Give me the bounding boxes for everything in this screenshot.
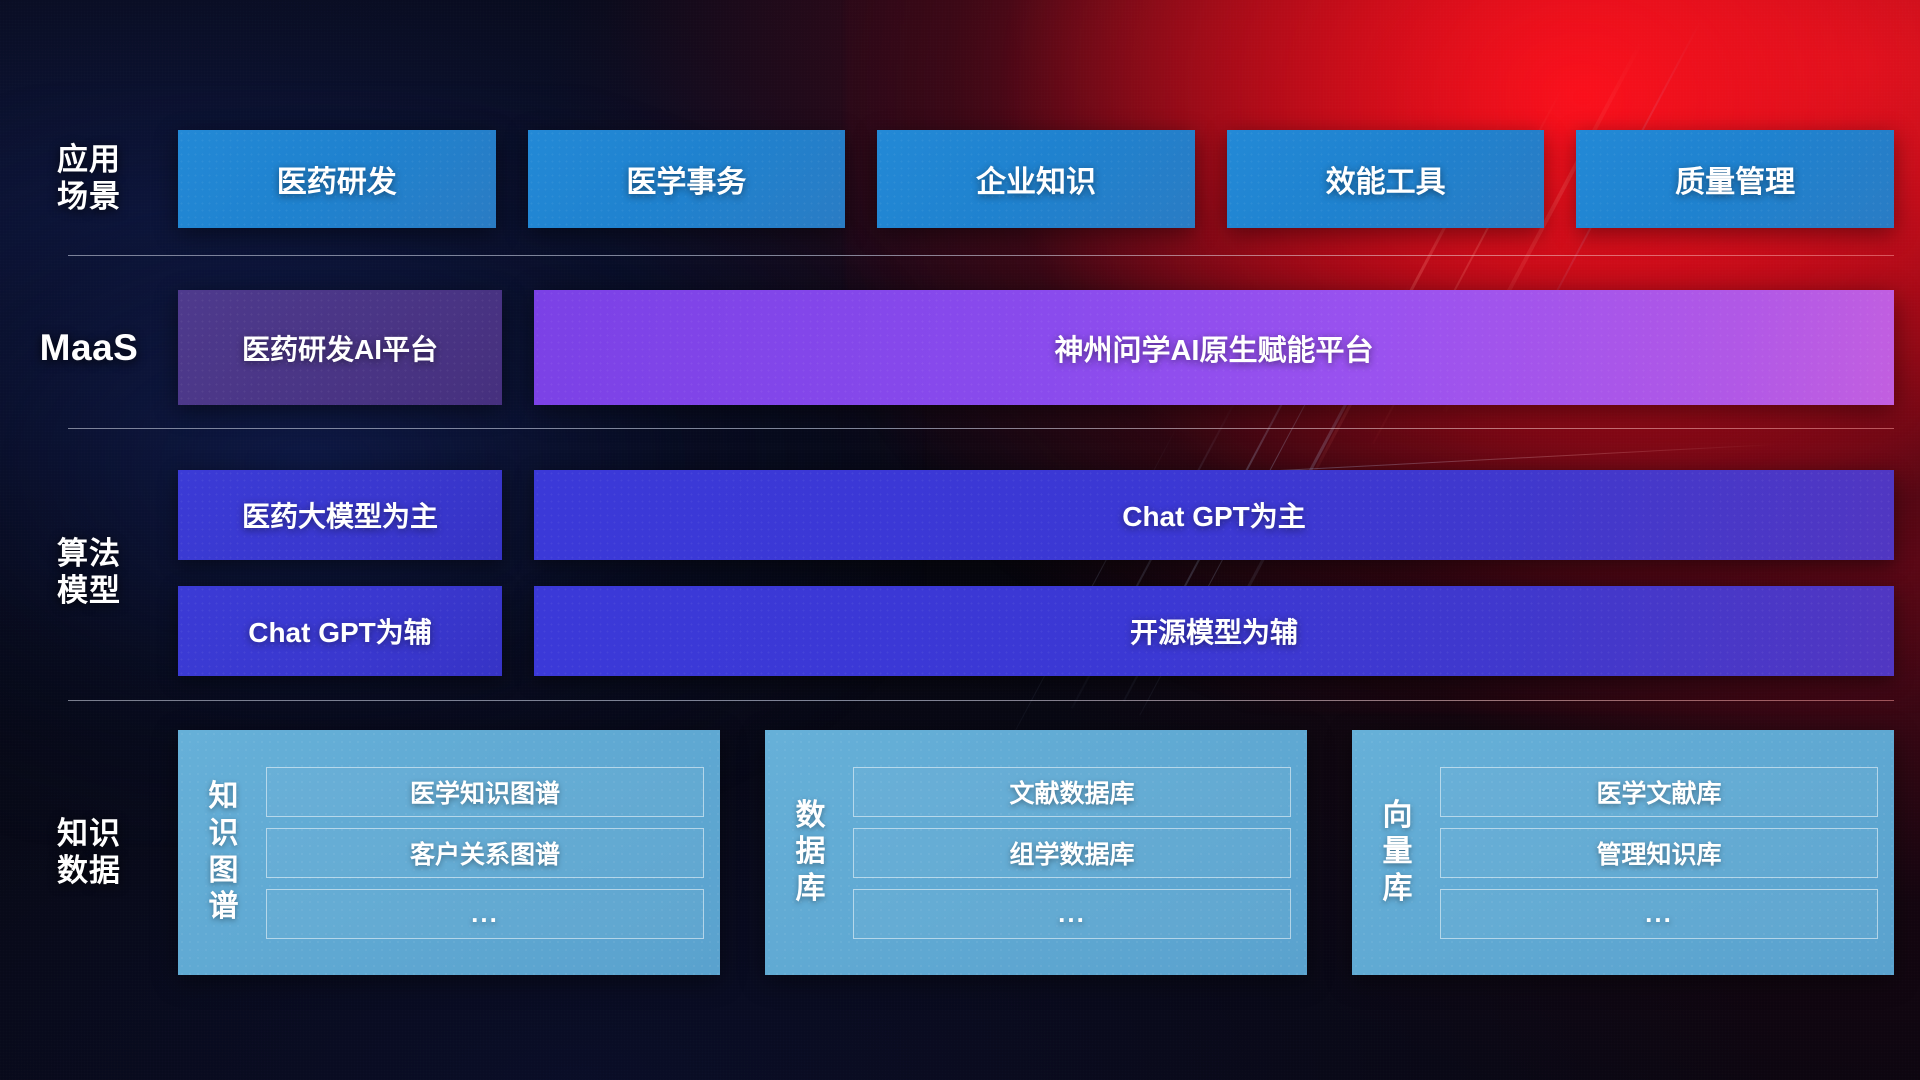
algo-card-opensource-secondary[interactable]: 开源模型为辅 (534, 586, 1894, 676)
app-card-4-label: 效能工具 (1326, 157, 1446, 201)
row-application-scenarios: 应用场景 医药研发 医学事务 企业知识 效能工具 质量管理 (0, 130, 1920, 228)
row-label-knowledge-data: 知识数据 (0, 730, 178, 975)
row-maas: MaaS 医药研发AI平台 神州问学AI原生赋能平台 (0, 290, 1920, 405)
app-card-5[interactable]: 质量管理 (1576, 130, 1894, 228)
knowledge-item-literature-database[interactable]: 文献数据库 (853, 767, 1291, 817)
knowledge-item-database-more-label: ... (1058, 898, 1086, 929)
knowledge-group-knowledge-graph-title: 知识图谱 (196, 779, 252, 925)
app-card-2-label: 医学事务 (626, 157, 746, 201)
knowledge-item-vector-more[interactable]: ... (1440, 889, 1878, 939)
algo-card-chatgpt-secondary[interactable]: Chat GPT为辅 (178, 586, 502, 676)
knowledge-item-medical-literature-store-label: 医学文献库 (1596, 774, 1721, 810)
divider-3 (68, 700, 1894, 701)
knowledge-group-database[interactable]: 数据库 文献数据库 组学数据库 ... (765, 730, 1307, 975)
knowledge-item-medical-literature-store[interactable]: 医学文献库 (1440, 767, 1878, 817)
knowledge-item-medical-knowledge-graph[interactable]: 医学知识图谱 (266, 767, 704, 817)
row-knowledge-data: 知识数据 知识图谱 医学知识图谱 客户关系图谱 ... 数据库 (0, 730, 1920, 975)
row-label-maas: MaaS (0, 326, 178, 370)
app-card-3[interactable]: 企业知识 (877, 130, 1195, 228)
knowledge-item-graph-more[interactable]: ... (266, 889, 704, 939)
app-card-4[interactable]: 效能工具 (1227, 130, 1545, 228)
knowledge-item-management-knowledge-store-label: 管理知识库 (1596, 835, 1721, 871)
maas-card-shenzhou-platform-label: 神州问学AI原生赋能平台 (1054, 327, 1373, 369)
app-card-1-label: 医药研发 (277, 157, 397, 201)
app-card-3-label: 企业知识 (976, 157, 1096, 201)
knowledge-item-customer-relation-graph-label: 客户关系图谱 (410, 835, 560, 871)
knowledge-group-vector-store[interactable]: 向量库 医学文献库 管理知识库 ... (1352, 730, 1894, 975)
knowledge-item-graph-more-label: ... (471, 898, 499, 929)
algo-line-2: Chat GPT为辅 开源模型为辅 (178, 586, 1894, 676)
knowledge-group-database-title: 数据库 (783, 798, 839, 908)
app-card-5-label: 质量管理 (1675, 157, 1795, 201)
knowledge-item-database-more[interactable]: ... (853, 889, 1291, 939)
divider-2 (68, 428, 1894, 429)
row-label-application-scenarios: 应用场景 (0, 142, 178, 215)
knowledge-group-vector-store-title: 向量库 (1370, 798, 1426, 908)
algo-card-chatgpt-secondary-label: Chat GPT为辅 (248, 611, 432, 651)
algo-card-chatgpt-primary-label: Chat GPT为主 (1122, 495, 1306, 535)
row-label-algorithm-models: 算法模型 (0, 536, 178, 609)
row-algorithm-models: 算法模型 医药大模型为主 Chat GPT为主 Chat GPT为辅 开源模型为… (0, 470, 1920, 676)
algo-card-drug-model-primary[interactable]: 医药大模型为主 (178, 470, 502, 560)
knowledge-group-knowledge-graph[interactable]: 知识图谱 医学知识图谱 客户关系图谱 ... (178, 730, 720, 975)
app-card-2[interactable]: 医学事务 (528, 130, 846, 228)
app-card-1[interactable]: 医药研发 (178, 130, 496, 228)
algo-card-opensource-secondary-label: 开源模型为辅 (1130, 611, 1298, 651)
divider-1 (68, 255, 1894, 256)
algo-line-1: 医药大模型为主 Chat GPT为主 (178, 470, 1894, 560)
maas-card-shenzhou-platform[interactable]: 神州问学AI原生赋能平台 (534, 290, 1894, 405)
algo-card-drug-model-primary-label: 医药大模型为主 (242, 495, 438, 535)
architecture-diagram: 应用场景 医药研发 医学事务 企业知识 效能工具 质量管理 MaaS 医药研发A… (0, 0, 1920, 1080)
algo-card-chatgpt-primary[interactable]: Chat GPT为主 (534, 470, 1894, 560)
knowledge-groups: 知识图谱 医学知识图谱 客户关系图谱 ... 数据库 (178, 730, 1920, 975)
knowledge-item-vector-more-label: ... (1645, 898, 1673, 929)
knowledge-item-medical-knowledge-graph-label: 医学知识图谱 (410, 774, 560, 810)
knowledge-item-customer-relation-graph[interactable]: 客户关系图谱 (266, 828, 704, 878)
knowledge-item-management-knowledge-store[interactable]: 管理知识库 (1440, 828, 1878, 878)
knowledge-item-literature-database-label: 文献数据库 (1009, 774, 1134, 810)
knowledge-item-omics-database[interactable]: 组学数据库 (853, 828, 1291, 878)
knowledge-item-omics-database-label: 组学数据库 (1009, 835, 1134, 871)
maas-card-drug-ai-platform[interactable]: 医药研发AI平台 (178, 290, 502, 405)
maas-card-drug-ai-platform-label: 医药研发AI平台 (242, 328, 438, 368)
